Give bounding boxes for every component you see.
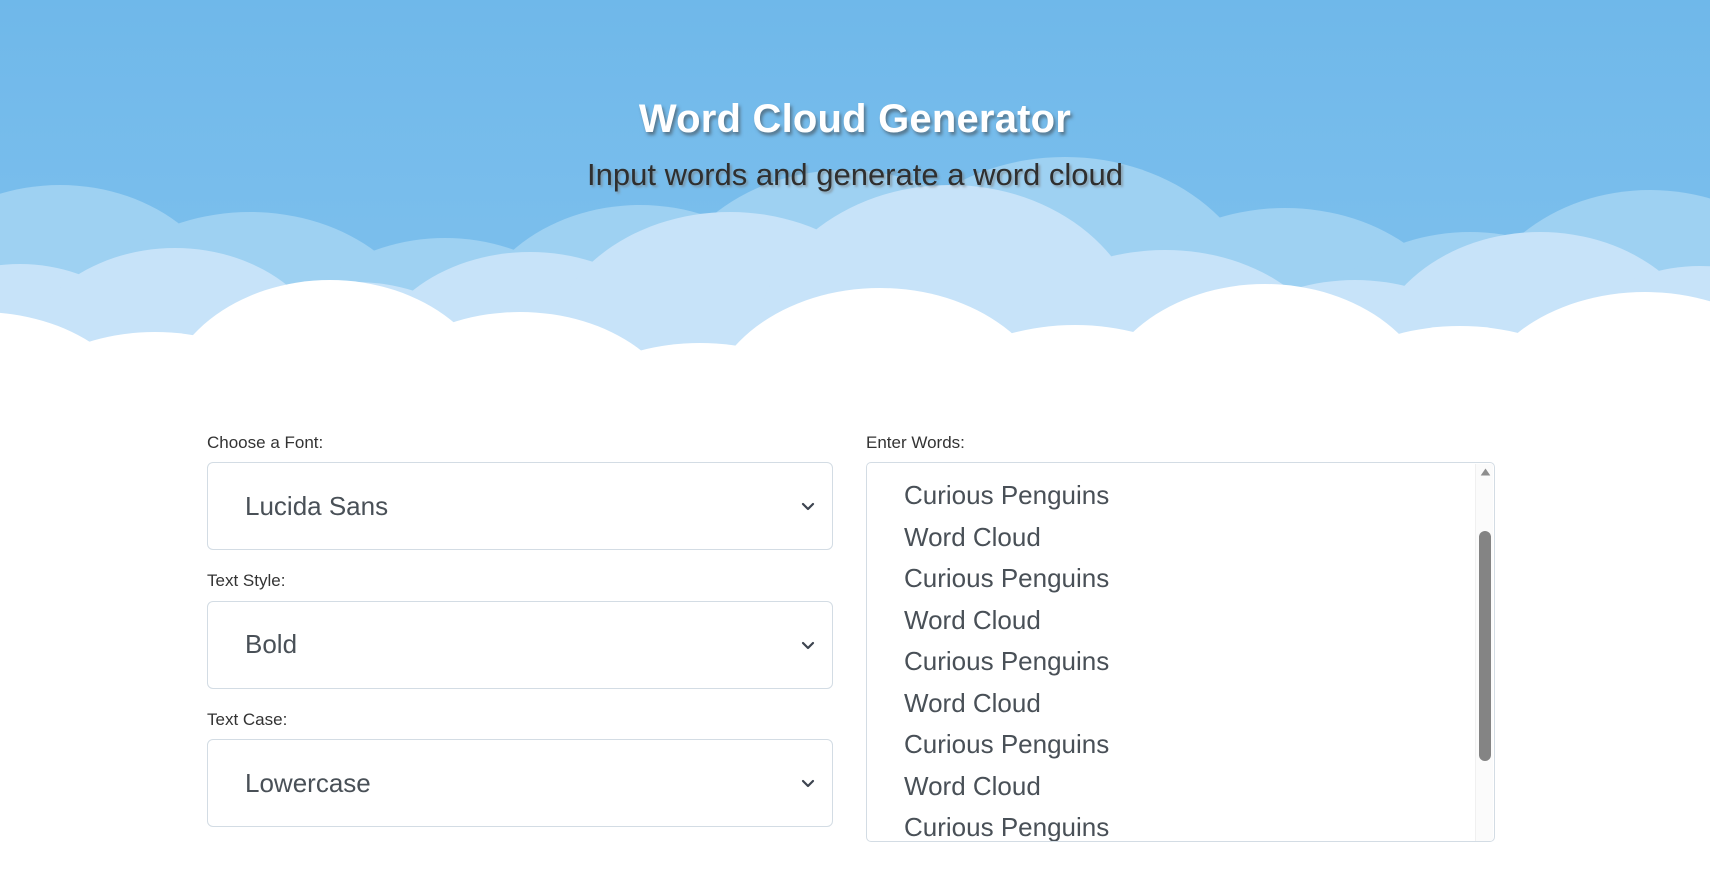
words-line-list: Curious PenguinsWord CloudCurious Pengui… xyxy=(867,463,1464,842)
words-line: Word Cloud xyxy=(904,600,1464,642)
words-column: Enter Words: Curious PenguinsWord CloudC… xyxy=(866,433,1495,842)
words-scrollbar[interactable] xyxy=(1475,464,1493,842)
words-line: Curious Penguins xyxy=(904,807,1464,842)
case-select-wrap: Lowercase xyxy=(207,739,833,827)
words-line: Word Cloud xyxy=(904,517,1464,559)
page-header: Word Cloud Generator Input words and gen… xyxy=(0,0,1710,420)
words-field: Enter Words: Curious PenguinsWord CloudC… xyxy=(866,433,1495,842)
style-field-label: Text Style: xyxy=(207,571,833,591)
words-line: Curious Penguins xyxy=(904,475,1464,517)
style-select-wrap: Bold xyxy=(207,601,833,689)
words-textarea[interactable]: Curious PenguinsWord CloudCurious Pengui… xyxy=(866,462,1495,842)
font-select[interactable]: Lucida Sans xyxy=(207,462,833,550)
words-textarea-wrap: Curious PenguinsWord CloudCurious Pengui… xyxy=(866,462,1495,842)
triangle-up-icon[interactable] xyxy=(1476,468,1494,484)
style-select[interactable]: Bold xyxy=(207,601,833,689)
style-field: Text Style: Bold xyxy=(207,571,833,688)
main-content: Choose a Font: Lucida Sans Text Style: B… xyxy=(0,420,1710,878)
sky-cloud-illustration xyxy=(0,0,1710,420)
case-select[interactable]: Lowercase xyxy=(207,739,833,827)
words-line: Curious Penguins xyxy=(904,641,1464,683)
font-field-label: Choose a Font: xyxy=(207,433,833,453)
font-field: Choose a Font: Lucida Sans xyxy=(207,433,833,550)
options-column: Choose a Font: Lucida Sans Text Style: B… xyxy=(207,433,833,842)
word-cloud-form: Choose a Font: Lucida Sans Text Style: B… xyxy=(207,433,1497,842)
words-line: Curious Penguins xyxy=(904,558,1464,600)
scrollbar-thumb[interactable] xyxy=(1479,531,1491,761)
words-line: Word Cloud xyxy=(904,683,1464,725)
case-field-label: Text Case: xyxy=(207,710,833,730)
words-line: Curious Penguins xyxy=(904,724,1464,766)
words-line: Word Cloud xyxy=(904,766,1464,808)
case-field: Text Case: Lowercase xyxy=(207,710,833,827)
words-field-label: Enter Words: xyxy=(866,433,1495,453)
font-select-wrap: Lucida Sans xyxy=(207,462,833,550)
